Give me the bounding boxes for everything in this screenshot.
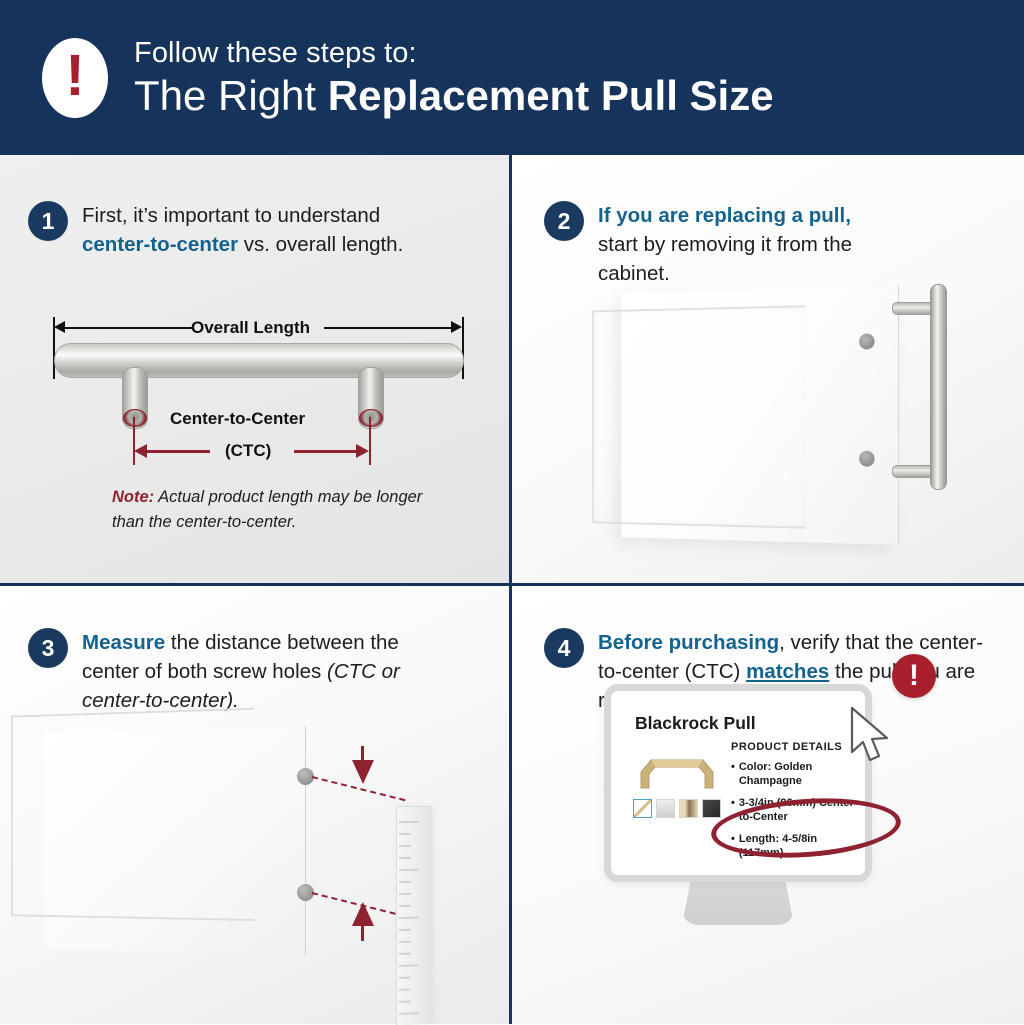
page-title-bold: Replacement Pull Size (328, 72, 774, 119)
cabinet-door-photo (621, 285, 899, 545)
step-1-line2-rest: vs. overall length. (238, 233, 403, 256)
header-text-group: Follow these steps to: The Right Replace… (134, 37, 774, 118)
step-1-line1: First, it’s important to understand (82, 204, 380, 227)
header-eyebrow: Follow these steps to: (134, 37, 774, 70)
measuring-door (45, 726, 306, 956)
step-1-badge: 1 (28, 201, 68, 241)
ctc-arrow-left (134, 444, 147, 458)
infographic-root: ! Follow these steps to: The Right Repla… (0, 0, 1024, 1024)
step-2-header: 2 If you are replacing a pull, start by … (544, 201, 878, 288)
product-detail-color: • Color: Golden Champagne (731, 760, 863, 788)
ctc-line-left (142, 450, 210, 453)
door-screw-hole-bottom (859, 451, 874, 467)
mouse-pointer-icon (848, 706, 896, 773)
step-3-highlight: Measure (82, 631, 165, 654)
step-2-badge: 2 (544, 201, 584, 241)
measuring-door-inset (11, 708, 254, 921)
step-2-highlight: If you are replacing a pull, (598, 204, 851, 227)
step-panel-1: 1 First, it’s important to understand ce… (0, 155, 509, 583)
door-screw-hole-top (859, 333, 874, 349)
overall-arrow-right (451, 321, 462, 333)
ctc-abbrev-label: (CTC) (225, 441, 271, 461)
step-2-text: If you are replacing a pull, start by re… (598, 201, 878, 288)
overall-tick-right (462, 317, 464, 379)
thumbnail-2[interactable] (656, 799, 675, 818)
note-body: Actual product length may be longer than… (112, 488, 422, 531)
product-name: Blackrock Pull (635, 713, 756, 734)
exclamation-badge-icon: ! (892, 654, 936, 698)
step-2-rest: start by removing it from the cabinet. (598, 233, 852, 285)
step-panel-3: 3 Measure the distance between the cente… (0, 586, 509, 1024)
golden-pull-icon (635, 746, 719, 792)
screw-hole-left (123, 409, 147, 427)
monitor-mockup: Blackrock Pull (604, 684, 872, 934)
product-hero-image (633, 743, 721, 795)
product-detail-color-text: Color: Golden Champagne (739, 760, 863, 788)
step-1-highlight: center-to-center (82, 233, 238, 256)
door-inset-panel (592, 305, 806, 528)
note-label: Note: (112, 488, 154, 506)
product-details-heading: PRODUCT DETAILS (731, 741, 863, 753)
step-1-text: First, it’s important to understand cent… (82, 201, 403, 259)
bar-pull-body (54, 343, 464, 378)
step-4-badge: 4 (544, 628, 584, 668)
page-title: The Right Replacement Pull Size (134, 74, 774, 118)
exclamation-icon: ! (42, 38, 108, 118)
ctc-label: Center-to-Center (170, 409, 305, 429)
product-thumbnails[interactable] (633, 799, 721, 818)
overall-line-left (62, 327, 192, 329)
monitor-stand (682, 879, 794, 925)
header-banner: ! Follow these steps to: The Right Repla… (0, 0, 1024, 160)
bullet-dot: • (731, 760, 735, 788)
page-title-light: The Right (134, 72, 328, 119)
ctc-vline-right (369, 417, 371, 465)
ruler-icon (396, 806, 432, 1025)
exclamation-glyph: ! (65, 47, 84, 105)
screw-hole-right (359, 409, 383, 427)
ctc-arrow-right (356, 444, 369, 458)
arrow-up-stem (361, 925, 364, 941)
pull-dimension-diagram: Overall Length Center-to-Center (CTC) (38, 305, 478, 465)
step-3-text: Measure the distance between the center … (82, 628, 452, 715)
arrow-up-icon (352, 902, 374, 926)
overall-line-right (324, 327, 454, 329)
detached-bar-pull (930, 284, 947, 490)
step-panel-2: 2 If you are replacing a pull, start by … (512, 155, 1024, 583)
arrow-down-icon (352, 760, 374, 784)
step-1-header: 1 First, it’s important to understand ce… (28, 201, 403, 259)
horizontal-divider (0, 583, 1024, 586)
vertical-divider (509, 155, 512, 1024)
product-length-note: Note: Actual product length may be longe… (112, 485, 452, 535)
steps-grid: 1 First, it’s important to understand ce… (0, 155, 1024, 1024)
ctc-line-right (294, 450, 362, 453)
step-3-badge: 3 (28, 628, 68, 668)
monitor-screen: Blackrock Pull (604, 684, 872, 882)
overall-arrow-left (54, 321, 65, 333)
step-4-highlight: Before purchasing (598, 631, 779, 654)
matches-link[interactable]: matches (746, 660, 829, 683)
thumbnail-4[interactable] (702, 799, 721, 818)
overall-length-label: Overall Length (191, 318, 310, 338)
step-3-header: 3 Measure the distance between the cente… (28, 628, 452, 715)
warning-glyph: ! (909, 661, 919, 691)
thumbnail-3[interactable] (679, 799, 698, 818)
thumbnail-1[interactable] (633, 799, 652, 818)
step-panel-4: 4 Before purchasing, verify that the cen… (512, 586, 1024, 1024)
